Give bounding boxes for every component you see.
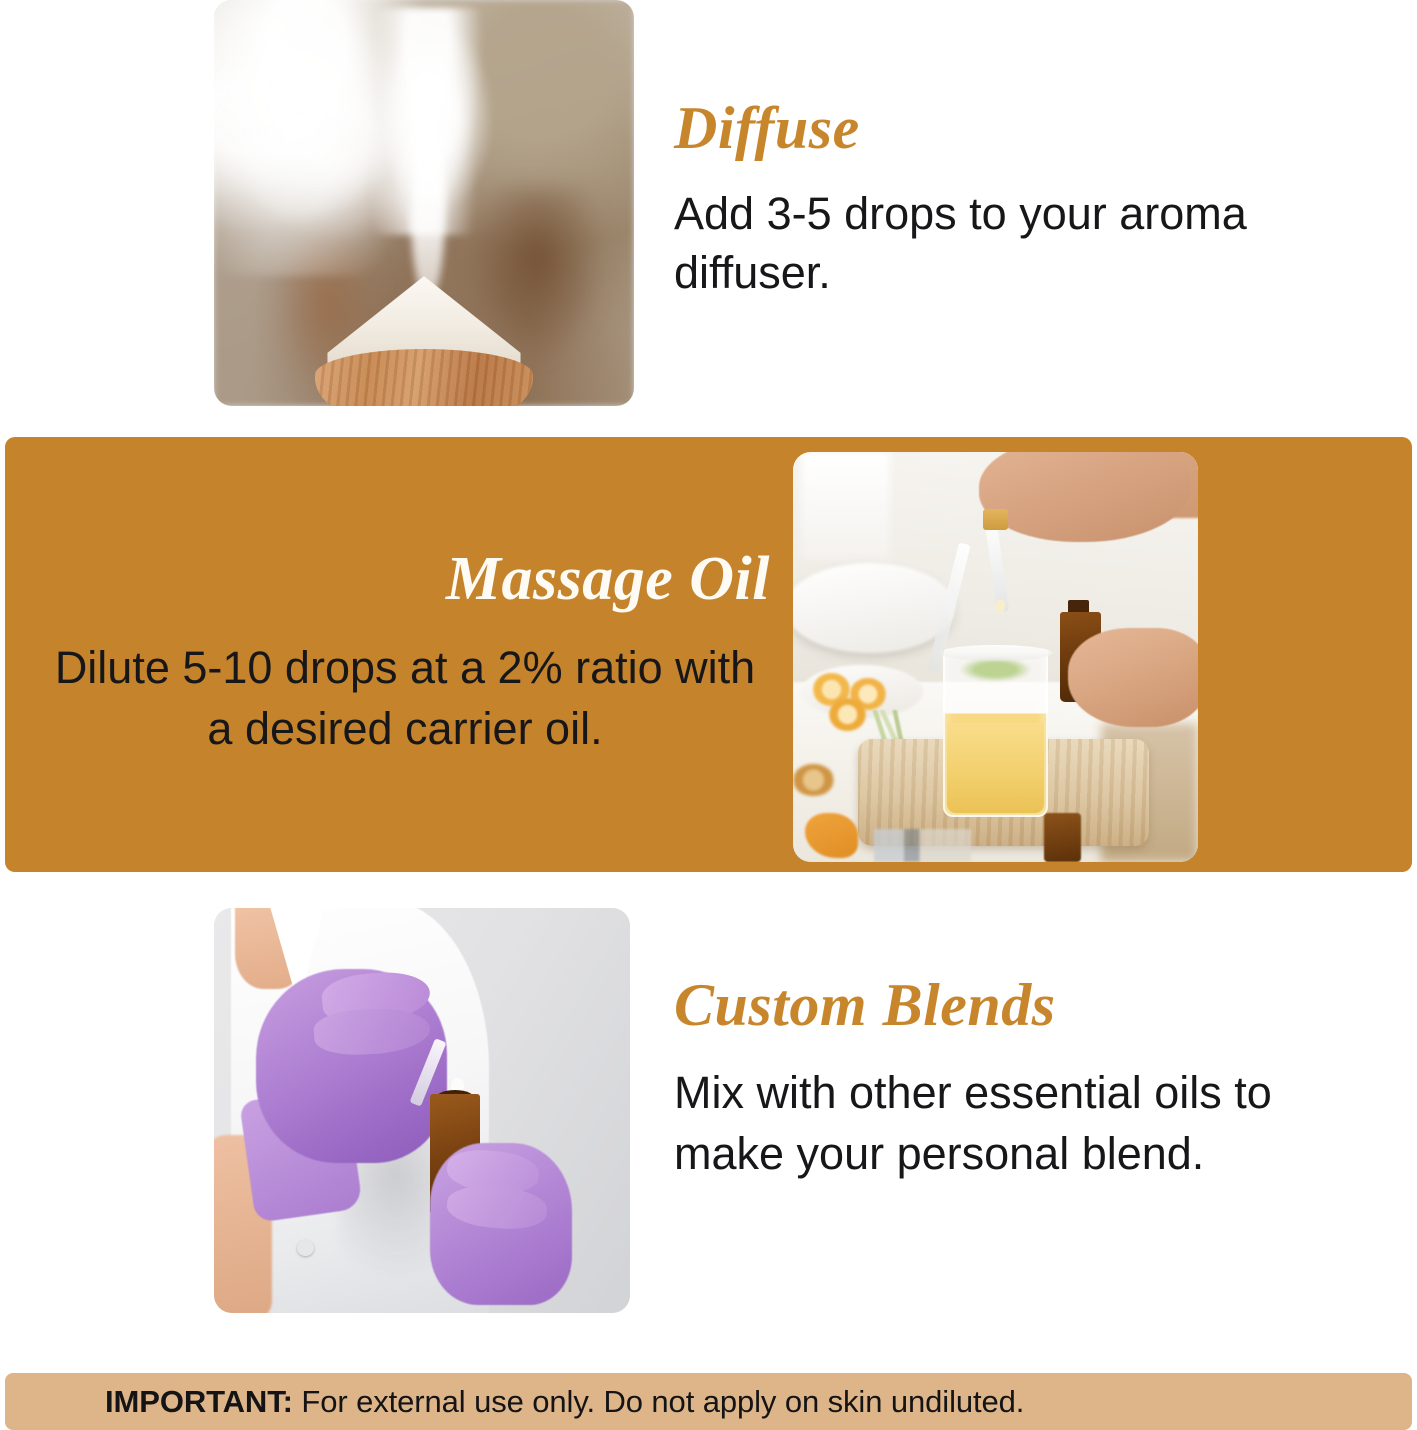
important-message: For external use only. Do not apply on s…	[293, 1384, 1024, 1419]
important-notice-banner: IMPORTANT: For external use only. Do not…	[5, 1373, 1412, 1430]
custom-blends-text-block: Custom Blends Mix with other essential o…	[674, 975, 1294, 1185]
diffuse-heading: Diffuse	[674, 98, 1274, 158]
custom-blends-body-text: Mix with other essential oils to make yo…	[674, 1063, 1294, 1185]
important-notice-text: IMPORTANT: For external use only. Do not…	[5, 1384, 1024, 1420]
diffuser-photo	[214, 0, 634, 406]
usage-instructions-infographic: Diffuse Add 3-5 drops to your aroma diff…	[0, 0, 1417, 1430]
massage-oil-text-block: Massage Oil Dilute 5-10 drops at a 2% ra…	[40, 548, 770, 760]
diffuse-body-text: Add 3-5 drops to your aroma diffuser.	[674, 184, 1274, 303]
custom-blends-photo	[214, 908, 630, 1313]
custom-blends-heading: Custom Blends	[674, 975, 1294, 1035]
important-label: IMPORTANT:	[105, 1384, 293, 1419]
diffuse-text-block: Diffuse Add 3-5 drops to your aroma diff…	[674, 98, 1274, 303]
massage-oil-heading: Massage Oil	[40, 548, 770, 610]
massage-oil-body-text: Dilute 5-10 drops at a 2% ratio with a d…	[40, 638, 770, 760]
massage-oil-photo	[793, 452, 1198, 862]
